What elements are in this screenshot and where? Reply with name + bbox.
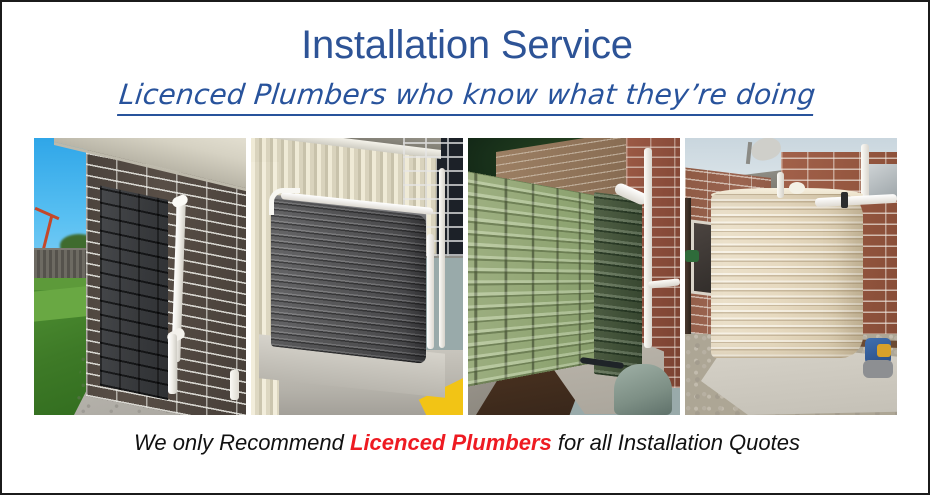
caption-trail: for all Installation Quotes [552,430,800,455]
footer-caption: We only Recommend Licenced Plumbers for … [2,430,930,456]
photo4-pump-detail [877,344,891,357]
photo4-garden-tap [685,250,699,262]
photo4-pipe-band [841,192,848,208]
gallery-photo-2 [251,138,463,415]
photo2-downpipe [439,168,445,348]
photo2-slimline-tank [271,198,426,364]
photo1-slimline-tank [100,186,168,400]
photo4-downpipe [861,144,869,200]
photo4-tank-hatch [789,182,805,194]
photo-gallery [34,138,900,415]
photo3-end-tank [594,192,642,380]
page-subtitle: Licenced Plumbers who know what they’re … [2,78,930,116]
page-title: Installation Service [2,24,930,66]
page-subtitle-text: Licenced Plumbers who know what they’re … [117,78,817,116]
photo1-pipe-lower [168,334,177,394]
photo4-round-tank [711,194,863,358]
photo3-downpipe [644,148,652,348]
photo2-overflow-pipe [427,234,434,349]
caption-highlight: Licenced Plumbers [350,430,552,455]
photo2-pipe-bend [269,188,300,215]
gallery-photo-1 [34,138,246,415]
photo4-dark-downpipe [685,198,691,336]
caption-lead: We only Recommend [134,430,350,455]
photo3-pump [614,364,672,415]
photo4-pump-base [863,360,893,378]
gallery-photo-3 [468,138,680,415]
slide-container: Installation Service Licenced Plumbers w… [0,0,930,495]
photo4-inlet-downpipe [777,172,784,198]
gallery-photo-4 [685,138,897,415]
photo1-wall-downpipe [230,370,239,400]
